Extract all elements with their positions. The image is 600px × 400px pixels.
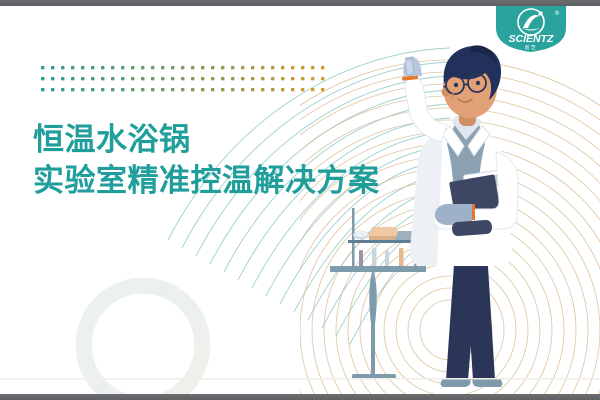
headline-block: 恒温水浴锅 实验室精准控温解决方案 xyxy=(33,124,380,199)
round-glasses xyxy=(444,74,487,94)
logo-wordmark: SCIENTZ xyxy=(509,33,555,45)
top-chrome-bar xyxy=(0,0,600,6)
headline-line-2: 实验室精准控温解决方案 xyxy=(33,165,380,198)
registered-trademark-icon: ® xyxy=(554,10,560,17)
headline-line-1: 恒温水浴锅 xyxy=(33,124,380,157)
logo-chinese-mark: 新芝 xyxy=(525,44,537,51)
background-ring xyxy=(48,250,238,400)
bottom-chrome-bar xyxy=(0,394,600,400)
scientist-figure xyxy=(402,45,518,387)
clipboard xyxy=(449,169,513,220)
arc-lines-right xyxy=(300,30,600,395)
promo-banner: 恒温水浴锅 实验室精准控温解决方案 SCIENTZ 新芝 ® xyxy=(0,0,600,400)
scientz-logo[interactable]: SCIENTZ 新芝 ® xyxy=(494,4,568,52)
dot-grid-pattern xyxy=(40,64,330,96)
lab-bench xyxy=(330,208,426,379)
